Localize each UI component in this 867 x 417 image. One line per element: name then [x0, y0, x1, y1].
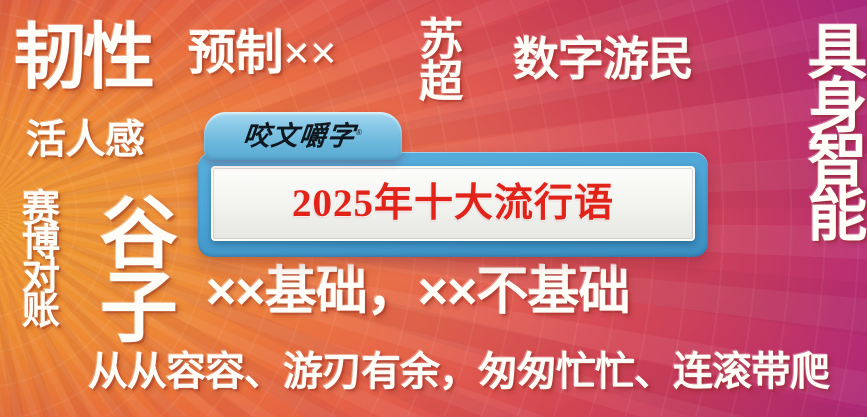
- poster-canvas: 韧性 预制×× 苏超 数字游民 具身智能 活人感 赛博对账 谷子 ××基础，××…: [0, 0, 867, 417]
- buzzword-congcongrongrong: 从从容容、游刃有余，匆匆忙忙、连滚带爬: [88, 352, 829, 392]
- buzzword-yuzhi: 预制××: [188, 30, 337, 78]
- registered-trademark-icon: ®: [355, 127, 364, 137]
- buzzword-renxing: 韧性: [14, 22, 152, 94]
- page-title: 2025年十大流行语: [292, 184, 614, 223]
- buzzword-suchao: 苏超: [415, 16, 457, 116]
- buzzword-jushen-zhineng: 具身智能: [803, 20, 861, 350]
- title-plaque-panel: 2025年十大流行语: [211, 166, 695, 241]
- magazine-logo-name: 咬文嚼字: [242, 121, 357, 151]
- magazine-logo-tab: 咬文嚼字®: [204, 112, 402, 160]
- title-plaque: 2025年十大流行语: [198, 152, 708, 257]
- buzzword-jichu: ××基础，××不基础: [206, 266, 629, 318]
- buzzword-shuzi-youmin: 数字游民: [513, 36, 693, 82]
- buzzword-guzi: 谷子: [96, 192, 168, 340]
- buzzword-huorengan: 活人感: [26, 120, 145, 160]
- magazine-logo-text: 咬文嚼字®: [242, 123, 365, 150]
- buzzword-saibo-duizhang: 赛博对账: [18, 188, 54, 388]
